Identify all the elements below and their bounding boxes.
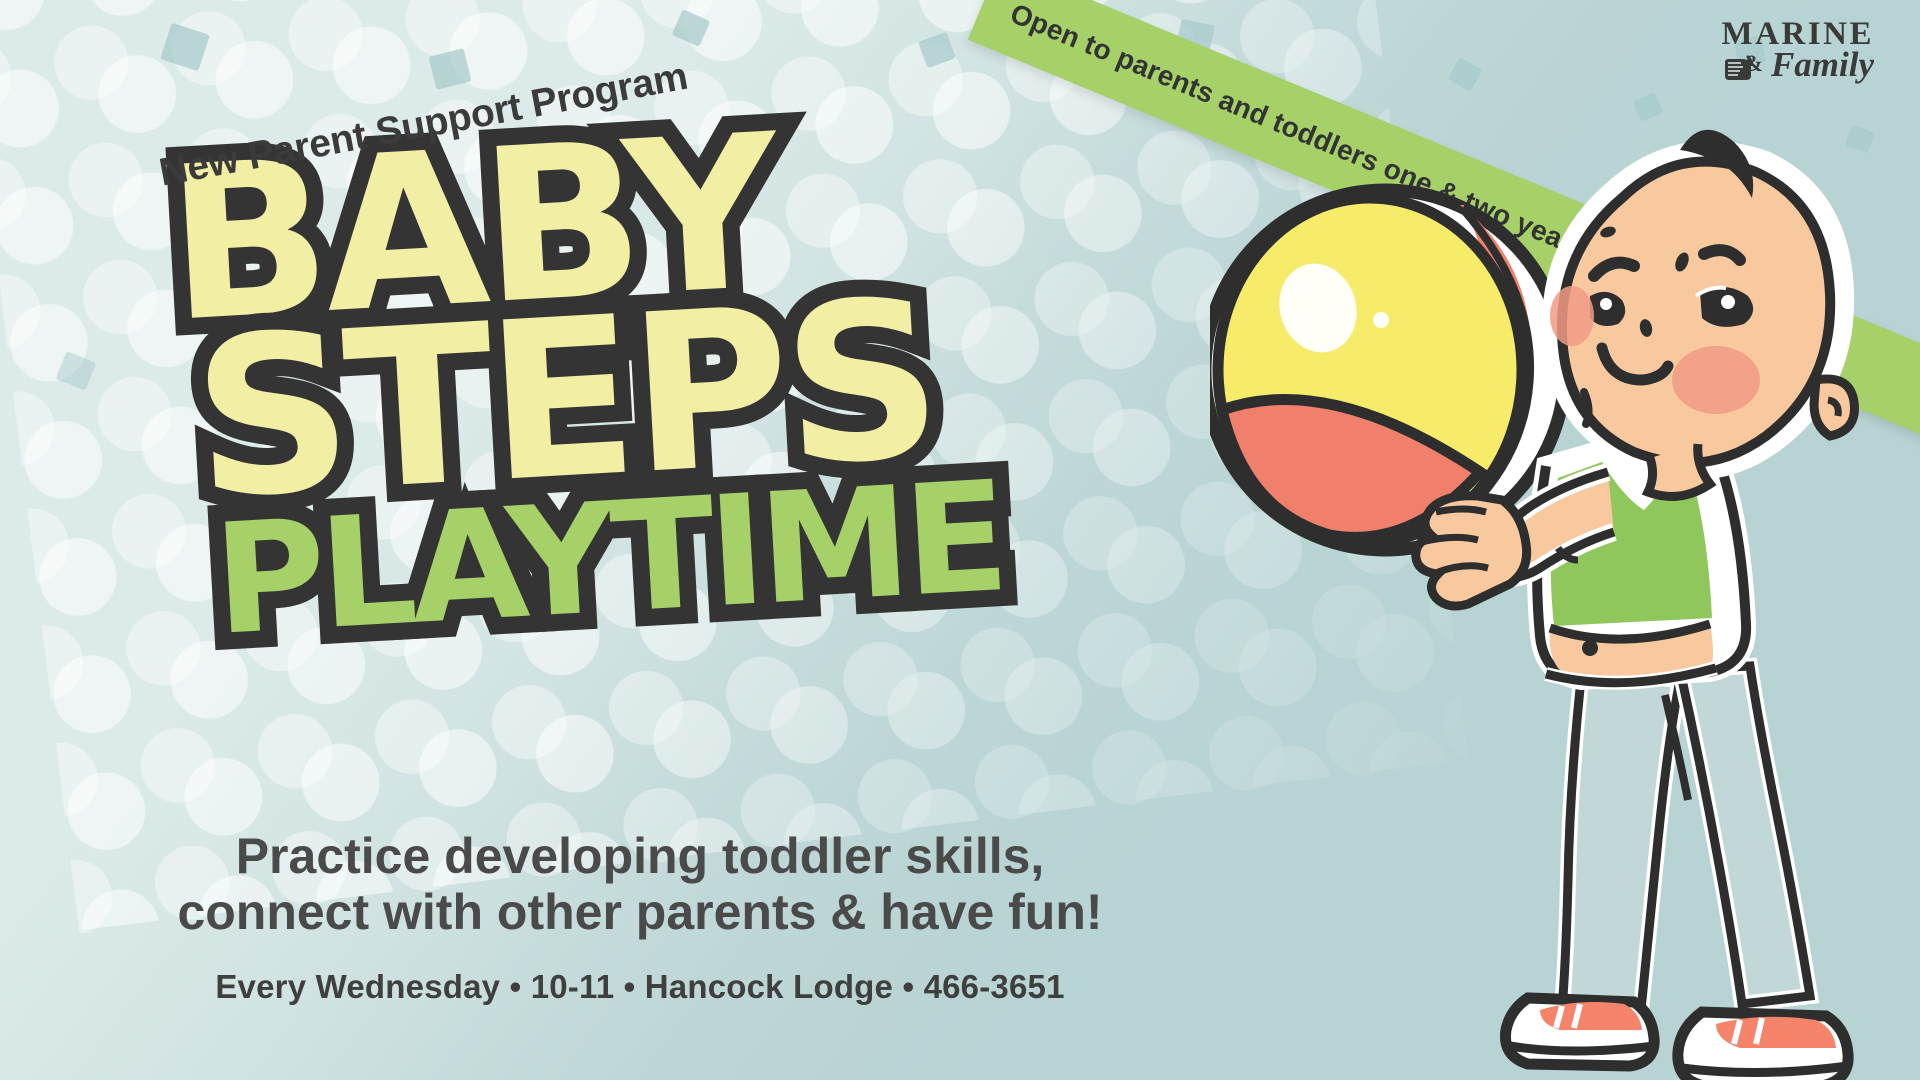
main-title-block: BABY STEPS PLAYTIME	[146, 118, 926, 678]
logo-family-word: Family	[1771, 47, 1874, 82]
baby-head-icon	[1542, 130, 1855, 497]
subtitle-line-1: Practice developing toddler skills,	[0, 828, 1280, 884]
subtitle-line-2: connect with other parents & have fun!	[0, 884, 1280, 940]
beach-ball-icon	[1210, 190, 1565, 550]
subtitle-block: Practice developing toddler skills, conn…	[0, 828, 1280, 940]
toddler-illustration	[1210, 80, 1920, 1080]
toddler-pants	[1562, 666, 1810, 1020]
toddler-hand	[1416, 496, 1527, 606]
marine-family-logo: MARINE & Family	[1722, 18, 1875, 82]
poster-canvas: Open to parents and toddlers one & two y…	[0, 0, 1920, 1080]
event-details-line: Every Wednesday • 10-11 • Hancock Lodge …	[0, 968, 1280, 1006]
logo-emblem-icon	[1721, 54, 1755, 88]
title-line-playtime: PLAYTIME	[211, 476, 1005, 641]
sneakers-icon	[1505, 998, 1848, 1080]
